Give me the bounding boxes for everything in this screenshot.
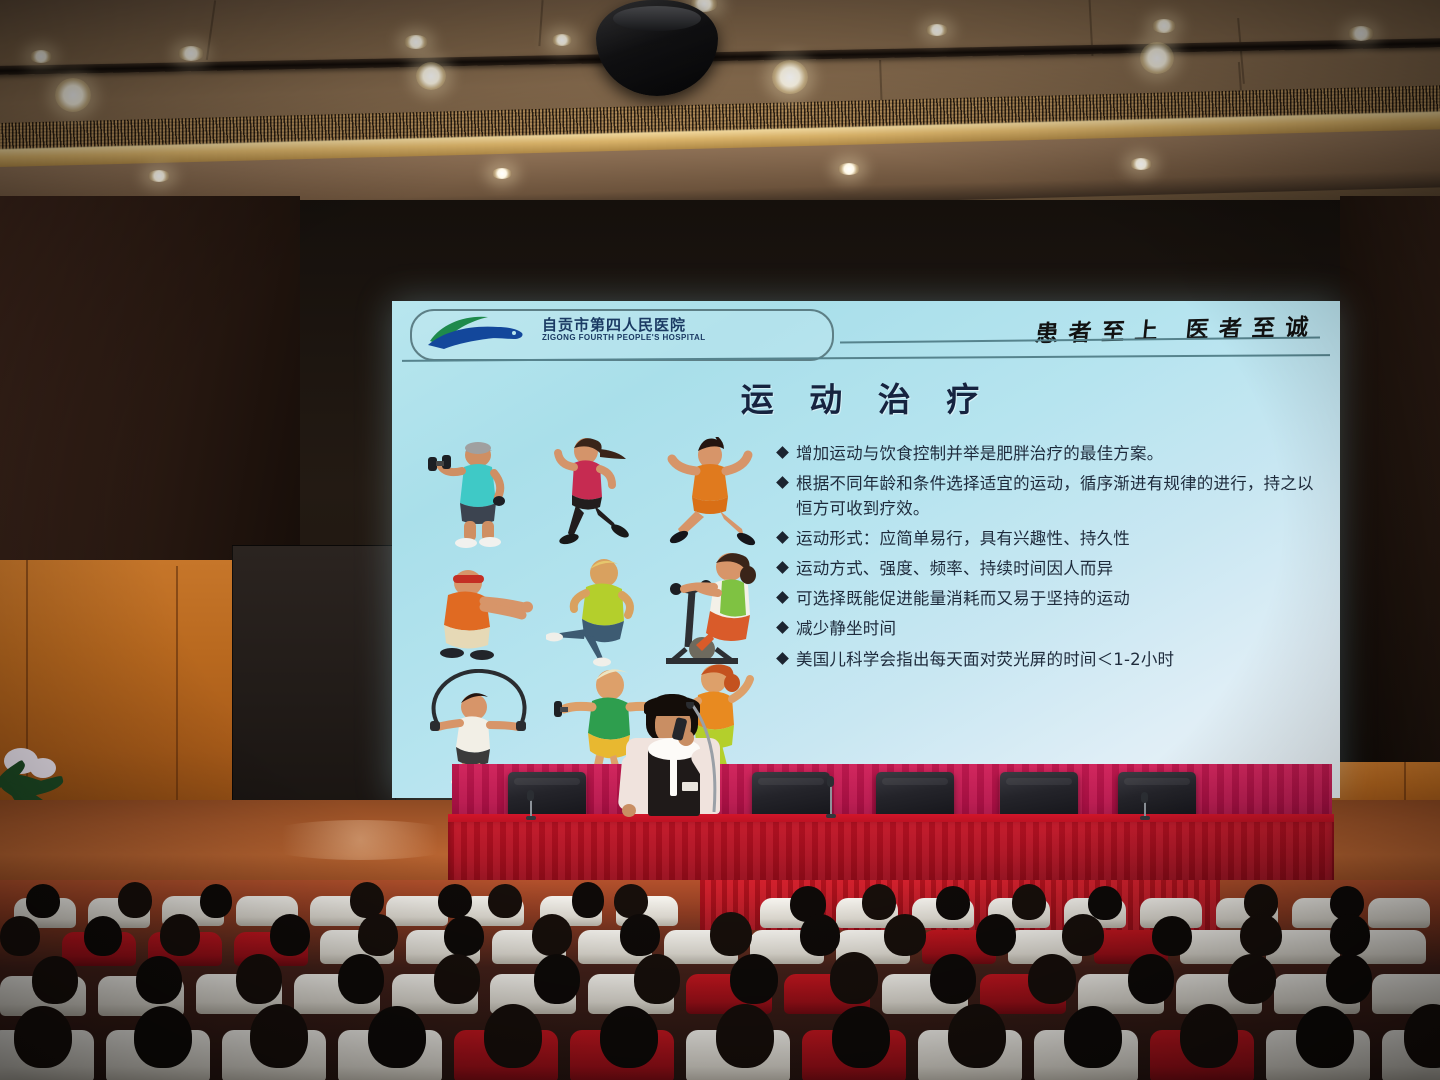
audience-head [1326,954,1372,1004]
audience-head [532,914,572,956]
audience-head [716,1004,774,1068]
audience-head [862,884,896,920]
hospital-bird-logo [426,315,534,351]
audience-head [84,916,122,956]
audience-head [200,884,232,918]
audience-head [830,952,878,1004]
audience-head [1296,1006,1354,1068]
bullet-item: 美国儿科学会指出每天面对荧光屏的时间＜1-2小时 [778,647,1326,672]
conference-chair[interactable] [876,772,954,818]
audience-head [930,954,976,1004]
audience-seating [0,880,1440,1080]
conference-chair[interactable] [752,772,830,818]
audience-head [948,1004,1006,1068]
audience-head [600,1006,658,1068]
floor-boom-microphone[interactable] [684,702,732,814]
diamond-bullet-icon [776,592,789,605]
audience-head [800,914,840,956]
audience-head [832,1006,890,1068]
audience-head [118,882,152,918]
hospital-motto: 患者至上 医者至诚 [1034,308,1320,349]
bullet-text: 减少静坐时间 [796,616,1326,641]
fig-dumbbell-curl [424,441,516,549]
audience-head [488,884,522,918]
table-microphone-center[interactable] [826,776,836,820]
bullet-item: 运动方式、强度、频率、持续时间因人而异 [778,556,1326,581]
audience-head [1012,884,1046,920]
downlight [1152,19,1176,33]
conference-chair[interactable] [508,772,586,818]
diamond-bullet-icon [776,561,789,574]
audience-head [32,956,78,1004]
audience-head [884,914,926,956]
bullet-item: 减少静坐时间 [778,616,1326,641]
table-microphone-left[interactable] [526,790,536,820]
audience-head [614,884,648,918]
audience-head [444,916,484,956]
diamond-bullet-icon [776,531,789,544]
fig-squatting-man [428,563,538,663]
downlight [772,60,808,94]
downlight [148,170,170,182]
fig-leg-raise [546,555,650,667]
audience-head [434,954,480,1004]
audience-head [14,1006,72,1068]
bullet-item: 根据不同年龄和条件选择适宜的运动，循序渐进有规律的进行，持之以恒方可收到疗效。 [778,471,1326,521]
bullet-item: 可选择既能促进能量消耗而又易于坚持的运动 [778,586,1326,611]
conference-chair[interactable] [1118,772,1196,818]
bullet-text: 美国儿科学会指出每天面对荧光屏的时间＜1-2小时 [796,647,1326,672]
downlight [926,24,948,36]
bullet-text: 运动形式：应简单易行，具有兴趣性、持久性 [796,526,1326,551]
diamond-bullet-icon [776,446,789,459]
projection-screen: 自贡市第四人民医院 ZIGONG FOURTH PEOPLE'S HOSPITA… [392,301,1340,798]
audience-head [438,884,472,918]
hospital-name-cn: 自贡市第四人民医院 [542,314,686,335]
audience-head [160,914,200,956]
audience-head [1330,914,1370,956]
audience-head [1228,954,1276,1004]
audience-head [270,914,310,956]
downlight [404,35,428,49]
downlight [30,50,52,63]
audience-head [368,1006,426,1068]
auditorium-photo: 自贡市第四人民医院 ZIGONG FOURTH PEOPLE'S HOSPITA… [0,0,1440,1080]
audience-head [1088,886,1122,920]
audience-head [136,956,182,1004]
downlight [492,168,512,179]
bullet-item: 增加运动与饮食控制并举是肥胖治疗的最佳方案。 [778,441,1326,466]
bullet-text: 运动方式、强度、频率、持续时间因人而异 [796,556,1326,581]
audience-head [236,954,282,1004]
audience-head [484,1004,542,1068]
downlight [838,163,860,175]
audience-head [1152,916,1192,956]
audience-head [0,916,40,956]
ceiling [0,0,1440,210]
audience-head [1180,1004,1238,1068]
diamond-bullet-icon [776,476,789,489]
audience-head [1240,914,1282,956]
downlight [178,46,204,61]
stage-moving-light [596,0,718,96]
downlight [416,62,446,90]
table-microphone-right[interactable] [1140,792,1150,820]
audience-head [710,912,752,956]
diamond-bullet-icon [776,652,789,665]
diamond-bullet-icon [776,622,789,635]
right-side-wall [1340,196,1440,776]
fig-running-man [658,437,762,553]
downlight [552,34,572,46]
audience-head [976,914,1016,956]
fig-exercise-bike [658,549,764,671]
audience-head [634,954,680,1004]
audience-head [730,954,778,1004]
audience-head [358,914,398,956]
audience-head [338,954,384,1004]
audience-head [572,882,604,918]
downlight [1130,158,1152,170]
conference-chair[interactable] [1000,772,1078,818]
audience-head [250,1004,308,1068]
slide-bullet-list: 增加运动与饮食控制并举是肥胖治疗的最佳方案。 根据不同年龄和条件选择适宜的运动，… [778,441,1326,677]
audience-head [1064,1006,1122,1068]
hospital-name-en: ZIGONG FOURTH PEOPLE'S HOSPITAL [542,333,706,342]
dark-wall-board [232,545,396,805]
audience-head [1062,914,1104,956]
bullet-text: 可选择既能促进能量消耗而又易于坚持的运动 [796,586,1326,611]
ceiling-light-rail [0,38,1440,75]
audience-head [1128,954,1174,1004]
slide-header: 自贡市第四人民医院 ZIGONG FOURTH PEOPLE'S HOSPITA… [392,301,1340,363]
fig-jogging-woman [542,435,638,547]
audience-head [534,954,580,1004]
seat[interactable] [1368,898,1430,928]
audience-head [1028,954,1076,1004]
audience-head [620,914,660,956]
audience-head [26,884,60,918]
slide-title: 运 动 治 疗 [392,373,1340,421]
bullet-item: 运动形式：应简单易行，具有兴趣性、持久性 [778,526,1326,551]
bullet-text: 增加运动与饮食控制并举是肥胖治疗的最佳方案。 [796,441,1326,466]
bullet-text: 根据不同年龄和条件选择适宜的运动，循序渐进有规律的进行，持之以恒方可收到疗效。 [796,471,1326,521]
audience-head [134,1006,192,1068]
audience-head [350,882,384,918]
audience-head [936,886,970,920]
downlight [55,78,91,112]
downlight [1348,26,1374,41]
downlight [1140,42,1174,74]
